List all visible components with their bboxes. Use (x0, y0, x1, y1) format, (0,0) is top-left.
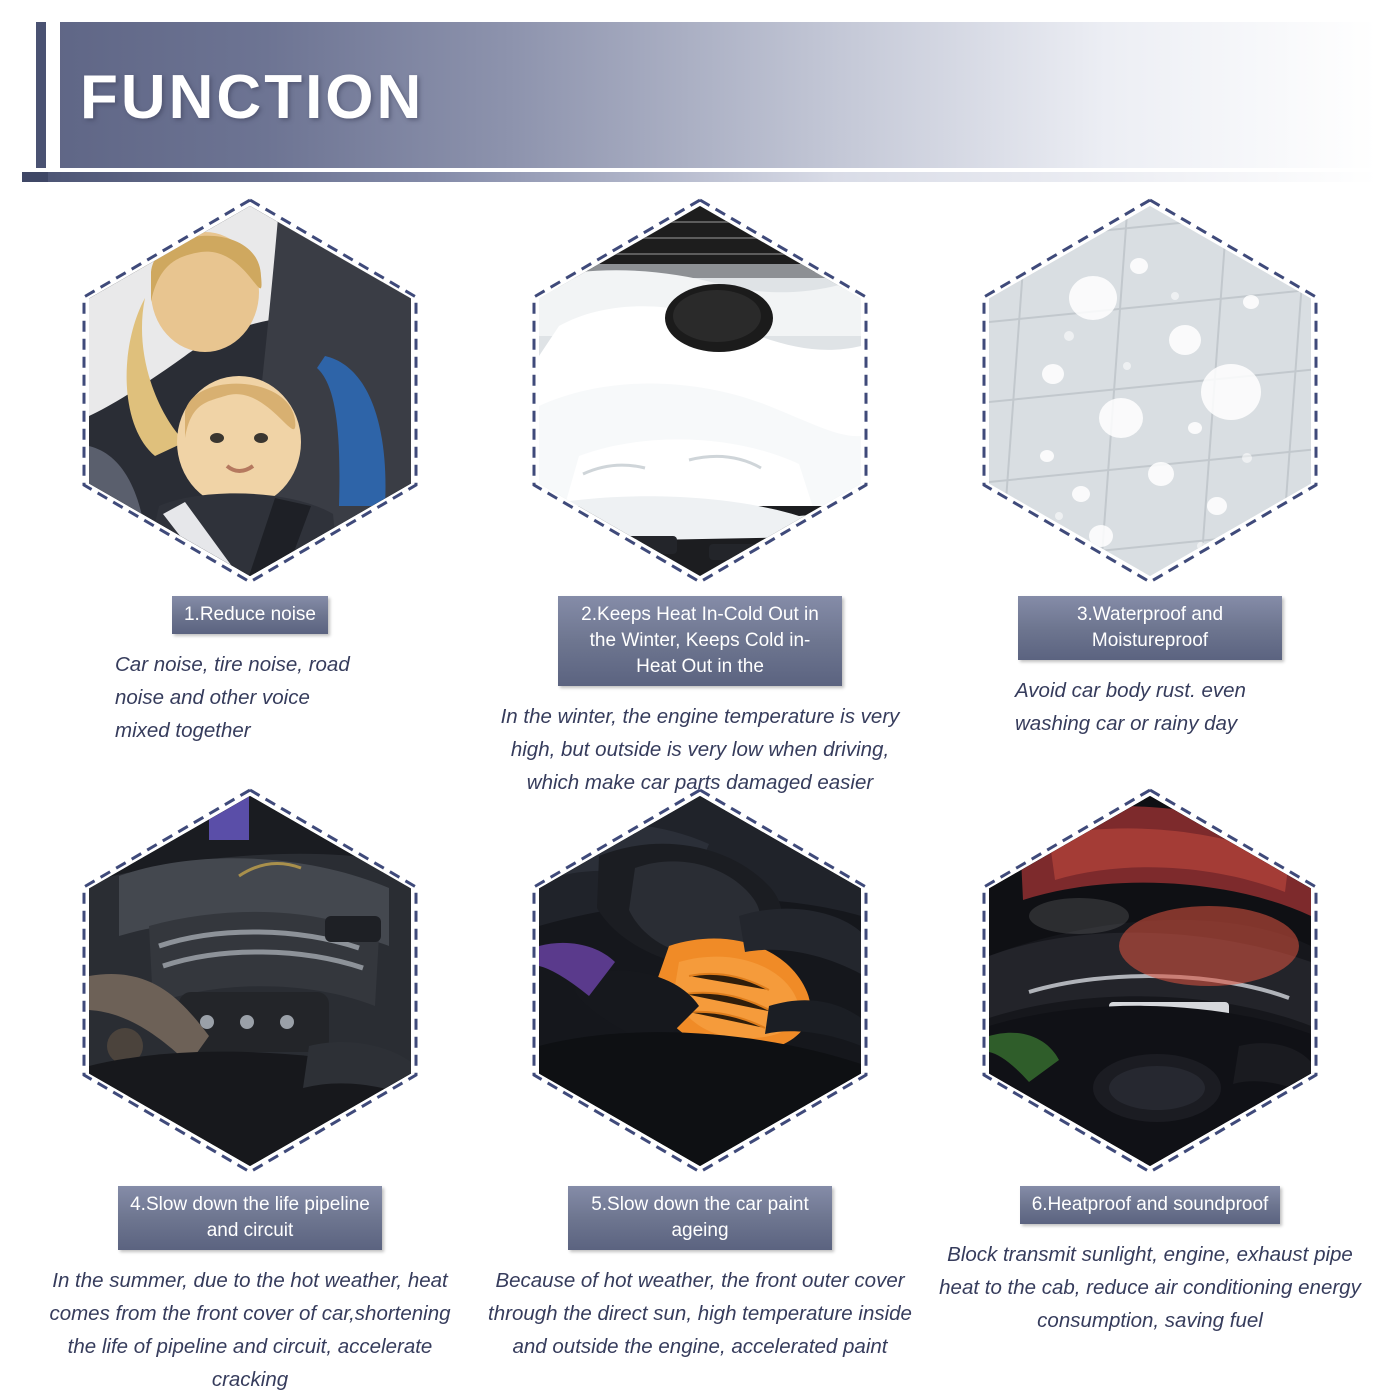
hexagon-frame-3 (980, 196, 1320, 586)
hexagon-frame-1 (80, 196, 420, 586)
feature-caption-4: In the summer, due to the hot weather, h… (35, 1264, 465, 1396)
hexagon-frame-6 (980, 786, 1320, 1176)
header-white-gap (46, 22, 60, 168)
hexagon-frame-5 (530, 786, 870, 1176)
feature-card-4: 4.Slow down the life pipeline and circui… (30, 786, 470, 1396)
feature-card-6: 6.Heatproof and soundproof Block transmi… (930, 786, 1370, 1337)
feature-badge-6: 6.Heatproof and soundproof (1020, 1186, 1281, 1224)
feature-grid: 1.Reduce noise Car noise, tire noise, ro… (0, 196, 1400, 1396)
feature-caption-2: In the winter, the engine temperature is… (485, 700, 915, 799)
hexagon-frame-2 (530, 196, 870, 586)
feature-badge-4: 4.Slow down the life pipeline and circui… (118, 1186, 382, 1250)
header-bottom-bar (22, 172, 1377, 182)
feature-card-2: 2.Keeps Heat In-Cold Out in the Winter, … (480, 196, 920, 799)
feature-badge-3: 3.Waterproof and Moistureproof (1018, 596, 1282, 660)
header-white-stripe (22, 22, 36, 168)
feature-badge-1: 1.Reduce noise (172, 596, 328, 634)
feature-row-1: 1.Reduce noise Car noise, tire noise, ro… (0, 196, 1400, 786)
feature-caption-1: Car noise, tire noise, road noise and ot… (115, 648, 365, 747)
hexagon-frame-4 (80, 786, 420, 1176)
feature-card-1: 1.Reduce noise Car noise, tire noise, ro… (30, 196, 470, 747)
feature-caption-5: Because of hot weather, the front outer … (485, 1264, 915, 1363)
page-title: FUNCTION (80, 62, 424, 133)
page-header: FUNCTION (0, 22, 1400, 172)
feature-card-3: 3.Waterproof and Moistureproof Avoid car… (930, 196, 1370, 740)
header-bottom-bar-cap (22, 172, 48, 182)
feature-caption-3: Avoid car body rust. even washing car or… (1015, 674, 1265, 740)
header-dark-stripe (36, 22, 46, 168)
feature-row-2: 4.Slow down the life pipeline and circui… (0, 786, 1400, 1396)
feature-caption-6: Block transmit sunlight, engine, exhaust… (935, 1238, 1365, 1337)
feature-badge-2: 2.Keeps Heat In-Cold Out in the Winter, … (558, 596, 842, 686)
feature-badge-5: 5.Slow down the car paint ageing (568, 1186, 832, 1250)
feature-card-5: 5.Slow down the car paint ageing Because… (480, 786, 920, 1363)
